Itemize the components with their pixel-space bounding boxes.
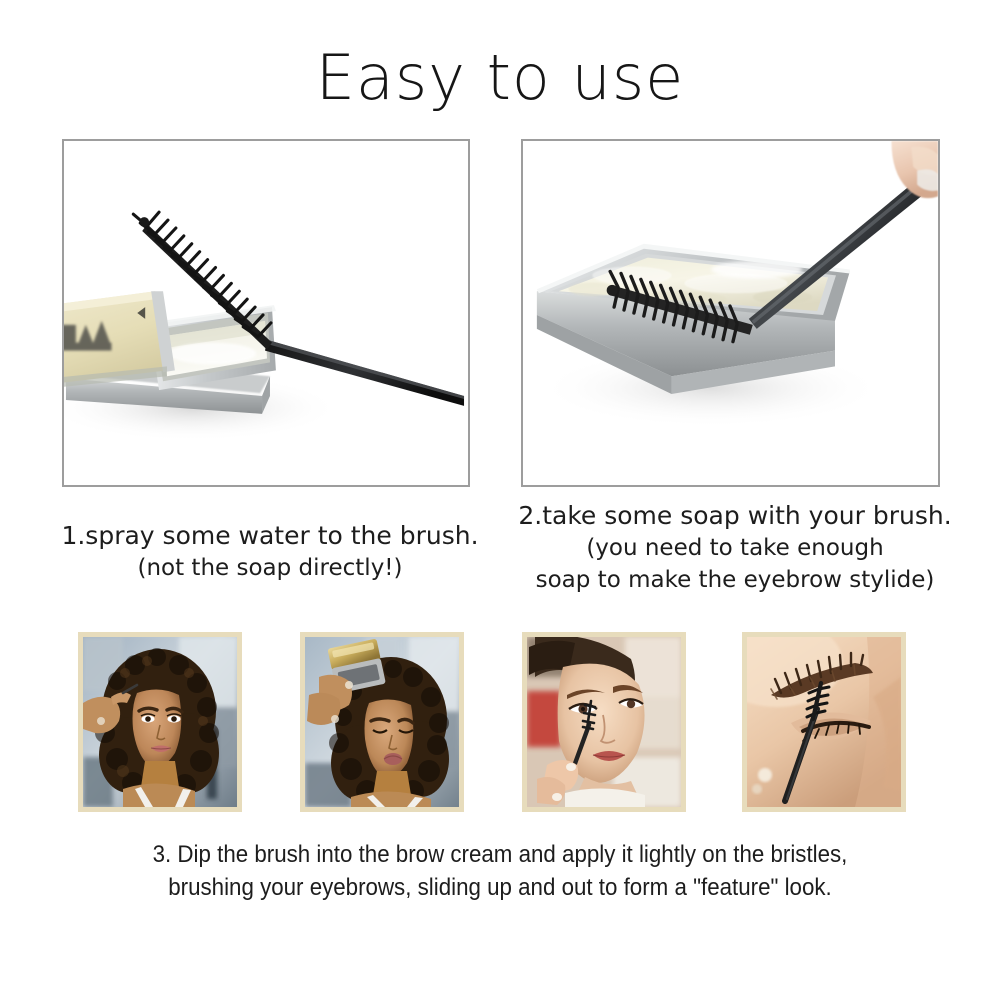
step-2-caption-line-3: soap to make the eyebrow stylide)	[500, 564, 970, 596]
step-1-caption-line-1: 1.spray some water to the brush.	[45, 520, 495, 552]
page-title: Easy to use	[0, 44, 1000, 112]
step-3-caption-line-2: brushing your eyebrows, sliding up and o…	[91, 871, 909, 904]
woman-touching-brow-photo	[83, 637, 237, 807]
step-2-photo-panel	[521, 139, 940, 487]
applying-brow-gel-photo	[527, 637, 681, 807]
step-2-caption-line-1: 2.take some soap with your brush.	[500, 500, 970, 532]
step-2-caption-line-2: (you need to take enough	[500, 532, 970, 564]
thumbnail-brow-closeup	[742, 632, 906, 812]
step-3-caption: 3. Dip the brush into the brow cream and…	[91, 838, 909, 904]
step-1-caption-line-2: (not the soap directly!)	[45, 552, 495, 584]
spray-water-photo	[64, 141, 468, 485]
thumbnail-applying-brow-gel	[522, 632, 686, 812]
step-1-photo-panel	[62, 139, 470, 487]
step-2-caption: 2.take some soap with your brush. (you n…	[500, 500, 970, 596]
take-soap-photo	[523, 141, 938, 485]
woman-holding-compact-photo	[305, 637, 459, 807]
thumbnail-woman-touching-brow	[78, 632, 242, 812]
step-1-caption: 1.spray some water to the brush. (not th…	[45, 520, 495, 584]
thumbnail-woman-holding-compact	[300, 632, 464, 812]
step-3-caption-line-1: 3. Dip the brush into the brow cream and…	[91, 838, 909, 871]
brow-closeup-photo	[747, 637, 901, 807]
